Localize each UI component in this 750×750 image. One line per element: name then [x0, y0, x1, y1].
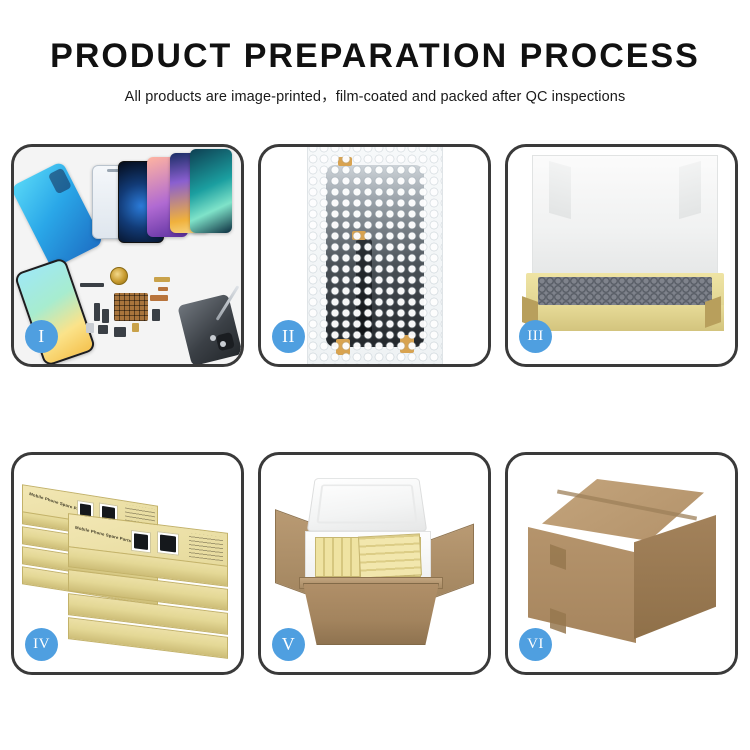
- white-box-lid: [532, 155, 718, 283]
- process-step-1: I Phone screens, tempered glass and spar…: [11, 144, 244, 367]
- part-strip-1: [80, 283, 104, 287]
- box-spec-lines-right: [189, 533, 223, 561]
- lid-flap-left: [549, 161, 571, 219]
- logic-board-chip: [114, 293, 148, 321]
- spare-parts-cluster: [80, 265, 240, 364]
- product-preparation-infographic: PRODUCT PREPARATION PROCESS All products…: [0, 0, 750, 750]
- step-badge-5: V: [272, 628, 305, 661]
- phone-backplate: [177, 294, 241, 364]
- bubble-wrapped-contents: [538, 277, 712, 305]
- process-step-6: VI Sealed brown shipping carton: [505, 452, 738, 675]
- part-flex-1: [94, 303, 100, 321]
- styrofoam-lid: [307, 478, 427, 531]
- step-badge-3: III: [519, 320, 552, 353]
- bubble-texture: [308, 147, 442, 364]
- phone-teal: [190, 149, 232, 233]
- part-small-4: [152, 309, 160, 321]
- blue-back-glass: [14, 161, 104, 269]
- screw-1: [210, 335, 216, 341]
- header: PRODUCT PREPARATION PROCESS All products…: [0, 36, 750, 106]
- part-small-2: [114, 327, 126, 337]
- part-flex-2: [102, 309, 109, 323]
- process-step-2: II LCD screen sealed inside a bubble-wra…: [258, 144, 491, 367]
- process-step-4: Mobile Phone Spare Parts Mobile Phone Sp…: [11, 452, 244, 675]
- process-step-3: III Kraft box with white lid containing …: [505, 144, 738, 367]
- carton-left-face: [528, 527, 636, 643]
- part-small-3: [132, 323, 139, 332]
- step-badge-1: I: [25, 320, 58, 353]
- process-step-grid: I Phone screens, tempered glass and spar…: [11, 144, 739, 685]
- step-badge-6: VI: [519, 628, 552, 661]
- kraft-tray-front: [526, 305, 724, 331]
- step-badge-4: IV: [25, 628, 58, 661]
- bubble-wrap-bag: [307, 147, 443, 364]
- part-strip-3: [158, 287, 168, 291]
- speaker-coil-part: [110, 267, 128, 285]
- part-cable-1: [150, 295, 168, 301]
- step-badge-2: II: [272, 320, 305, 353]
- box-label-right: Mobile Phone Spare Parts: [75, 525, 132, 544]
- part-strip-2: [154, 277, 170, 282]
- page-title: PRODUCT PREPARATION PROCESS: [0, 36, 750, 76]
- part-silver-1: [86, 323, 94, 333]
- box-window-right-2: [157, 531, 179, 556]
- part-small-1: [98, 325, 108, 334]
- carton-body: [303, 583, 439, 645]
- lid-flap-right: [679, 161, 701, 219]
- page-subtitle: All products are image-printed，film-coat…: [0, 85, 750, 106]
- screw-2: [220, 341, 226, 347]
- kraft-boxes-inside-2: [358, 533, 422, 578]
- process-step-5: V Open carton with styrofoam cooler hold…: [258, 452, 491, 675]
- box-window-right-1: [131, 530, 151, 553]
